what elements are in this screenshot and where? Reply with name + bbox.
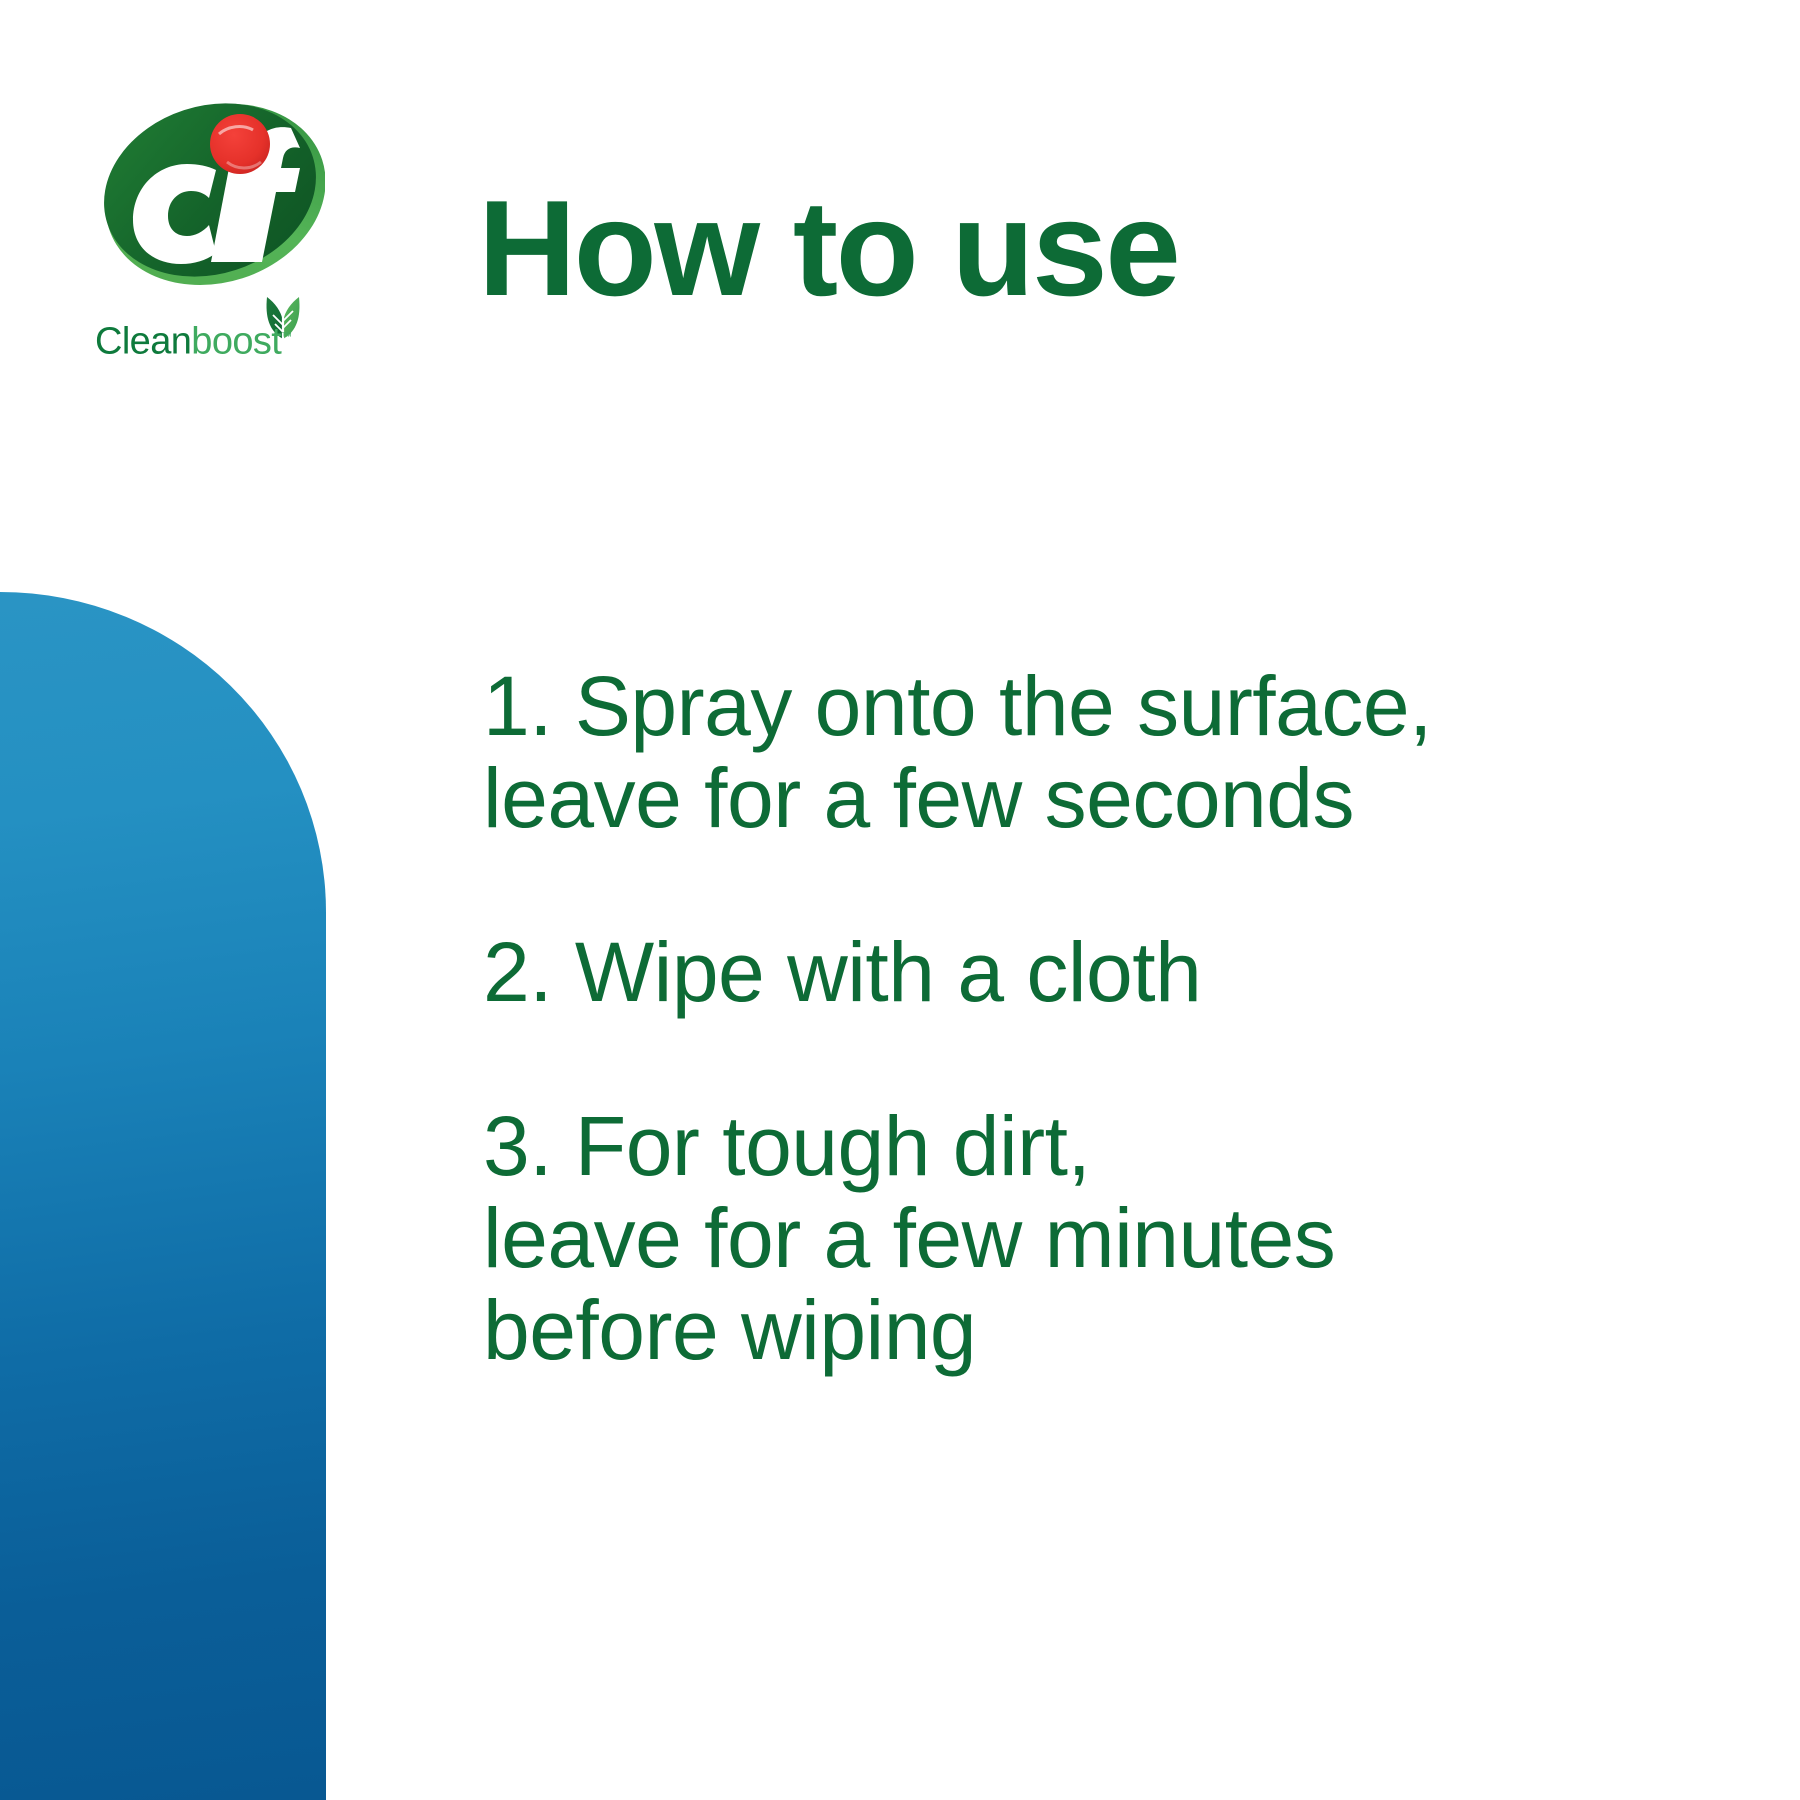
step-1-line-2: leave for a few seconds — [483, 752, 1743, 844]
cleanboost-clean-text: Clean — [95, 321, 191, 363]
instruction-step-1: 1. Spray onto the surface, leave for a f… — [483, 660, 1743, 844]
step-3-line-3: before wiping — [483, 1284, 1743, 1376]
cif-logo-icon — [95, 92, 325, 288]
red-dot-icon — [210, 114, 270, 174]
step-2-line-1: 2. Wipe with a cloth — [483, 926, 1743, 1018]
step-3-line-2: leave for a few minutes — [483, 1192, 1743, 1284]
cleanboost-boost-text: boost — [191, 321, 281, 363]
blue-rounded-panel — [0, 592, 326, 1800]
cleanboost-sub-brand: Cleanboost™ — [95, 290, 325, 348]
brand-logo-lockup: Cleanboost™ — [95, 92, 325, 347]
cleanboost-wordmark: Cleanboost™ — [95, 320, 310, 354]
instruction-step-2: 2. Wipe with a cloth — [483, 926, 1743, 1018]
page-title: How to use — [478, 173, 1178, 323]
instruction-step-3: 3. For tough dirt, leave for a few minut… — [483, 1100, 1743, 1376]
step-3-line-1: 3. For tough dirt, — [483, 1100, 1743, 1192]
step-1-line-1: 1. Spray onto the surface, — [483, 660, 1743, 752]
trademark-symbol: ™ — [281, 331, 291, 343]
poster-canvas: Cleanboost™ How to use 1. Spray onto the… — [0, 0, 1800, 1800]
instruction-steps-list: 1. Spray onto the surface, leave for a f… — [483, 660, 1743, 1376]
